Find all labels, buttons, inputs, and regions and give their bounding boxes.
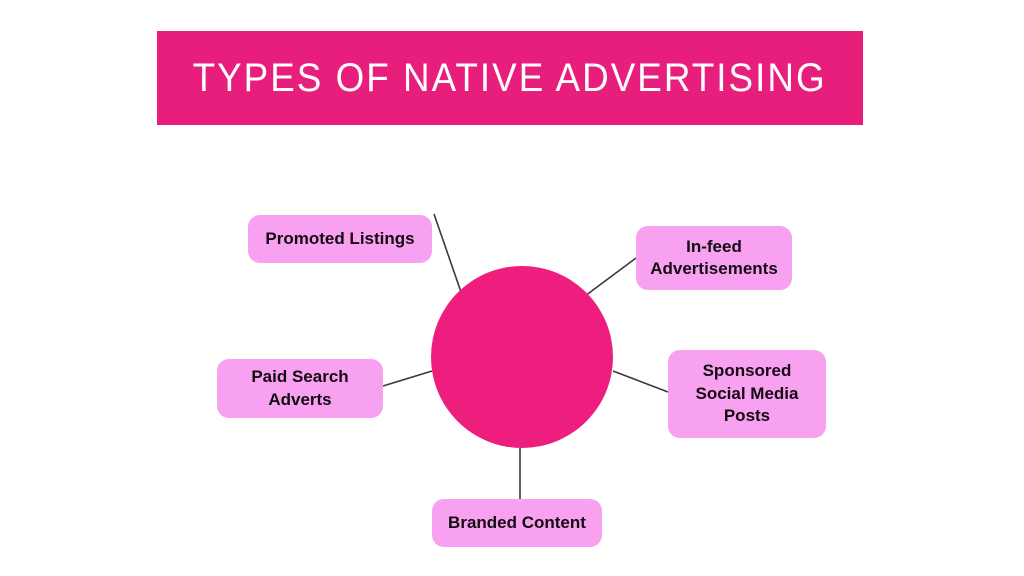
page-title: TYPES OF NATIVE ADVERTISING bbox=[193, 58, 827, 98]
node-paid-search-adverts-label: Paid Search Adverts bbox=[251, 366, 348, 411]
node-branded-content[interactable]: Branded Content bbox=[432, 499, 602, 547]
title-banner: TYPES OF NATIVE ADVERTISING bbox=[157, 31, 863, 125]
node-sponsored-social-media-posts-label: Sponsored Social Media Posts bbox=[696, 360, 799, 427]
node-promoted-listings-label: Promoted Listings bbox=[265, 228, 414, 250]
node-promoted-listings[interactable]: Promoted Listings bbox=[248, 215, 432, 263]
connector-sponsored-social bbox=[613, 371, 668, 392]
connector-paid-search bbox=[383, 371, 432, 386]
node-infeed-advertisements-label: In-feed Advertisements bbox=[650, 236, 778, 281]
slide-canvas: TYPES OF NATIVE ADVERTISING Promoted Lis… bbox=[0, 0, 1024, 576]
node-paid-search-adverts[interactable]: Paid Search Adverts bbox=[217, 359, 383, 418]
node-infeed-advertisements[interactable]: In-feed Advertisements bbox=[636, 226, 792, 290]
connector-promoted-listings bbox=[434, 214, 461, 292]
node-sponsored-social-media-posts[interactable]: Sponsored Social Media Posts bbox=[668, 350, 826, 438]
node-branded-content-label: Branded Content bbox=[448, 512, 586, 534]
connector-infeed-advertisements bbox=[585, 258, 636, 296]
hub-circle bbox=[431, 266, 613, 448]
